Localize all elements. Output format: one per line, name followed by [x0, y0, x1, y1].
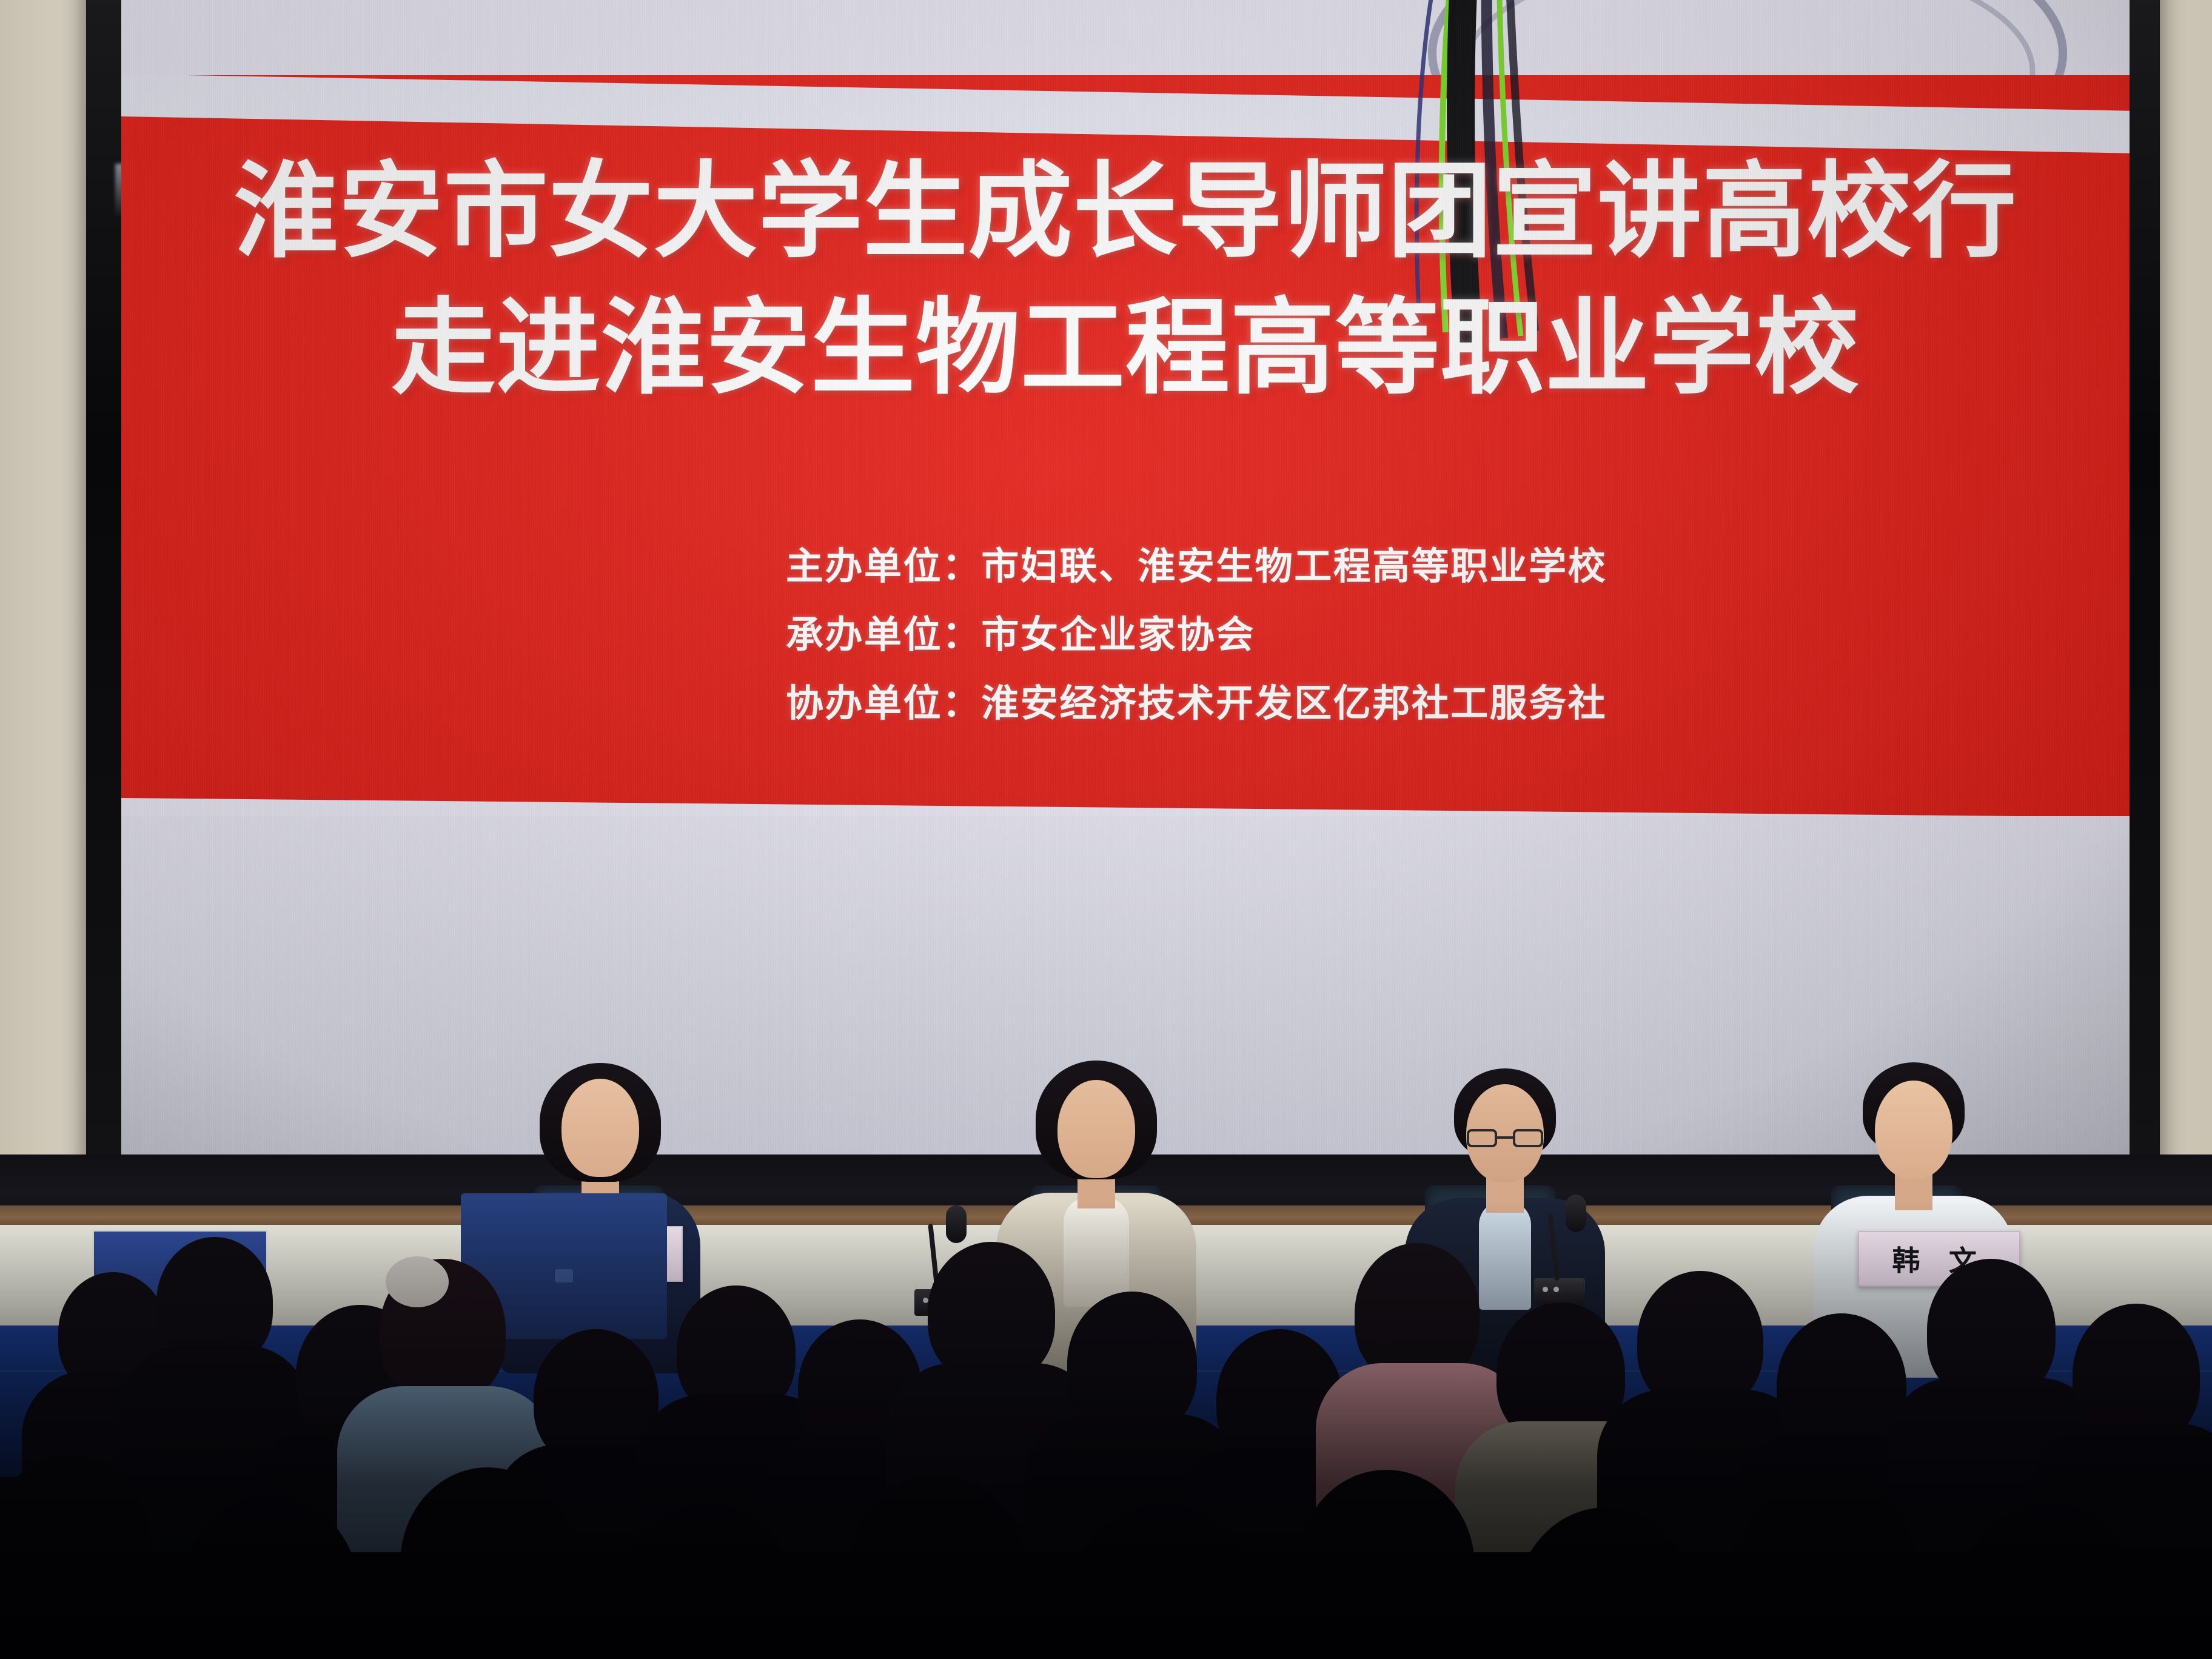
slide-title-line-2: 走进淮安生物工程高等职业学校	[121, 287, 2130, 410]
glasses-icon	[1467, 1129, 1543, 1147]
speaker-4-face	[1875, 1081, 1952, 1179]
slide-subtitles: 主办单位：市妇联、淮安生物工程高等职业学校 承办单位：市女企业家协会 协办单位：…	[786, 532, 1877, 737]
speaker-2-face	[1057, 1080, 1135, 1178]
slide-subtitle-coorganizer: 协办单位：淮安经济技术开发区亿邦社工服务社	[786, 669, 1877, 738]
hall-floor	[0, 1552, 2212, 1659]
slide-title-line-1: 淮安市女大学生成长导师团宣讲高校行	[121, 150, 2130, 273]
red-band-top-edge	[121, 74, 2130, 153]
hair-scrunchie	[386, 1256, 449, 1307]
audience-head	[928, 1242, 1055, 1382]
slide-subtitle-host: 承办单位：市女企业家协会	[786, 601, 1877, 669]
photo-scene: 淮安市女大学生成长导师团宣讲高校行 走进淮安生物工程高等职业学校 主办单位：市妇…	[0, 0, 2212, 1659]
glasses-bridge	[1497, 1136, 1513, 1139]
led-screen-panel: 淮安市女大学生成长导师团宣讲高校行 走进淮安生物工程高等职业学校 主办单位：市妇…	[121, 0, 2130, 1157]
slide-title: 淮安市女大学生成长导师团宣讲高校行 走进淮安生物工程高等职业学校	[121, 150, 2130, 410]
slide-subtitle-organizer: 主办单位：市妇联、淮安生物工程高等职业学校	[786, 532, 1877, 601]
glasses-left-lens	[1467, 1129, 1497, 1147]
glasses-right-lens	[1513, 1129, 1543, 1147]
speaker-1-face	[561, 1079, 639, 1177]
